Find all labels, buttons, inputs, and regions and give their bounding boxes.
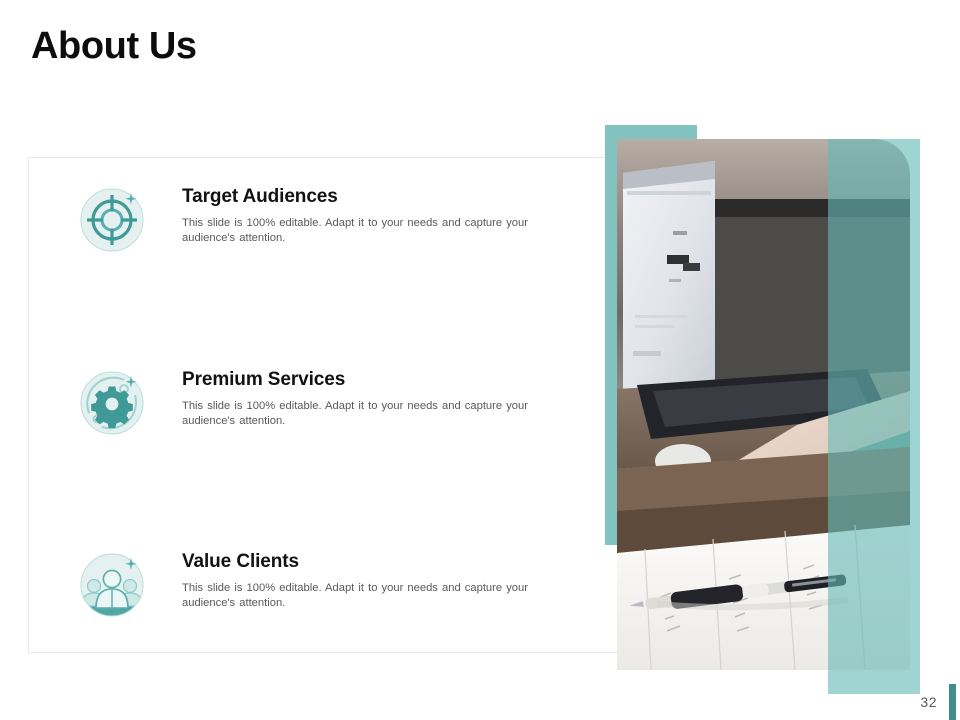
feature-item-premium-services[interactable]: Premium Services This slide is 100% edit… <box>78 368 578 448</box>
image-composition <box>605 125 925 685</box>
feature-description: This slide is 100% editable. Adapt it to… <box>182 399 554 430</box>
feature-text: Value Clients This slide is 100% editabl… <box>182 550 582 612</box>
feature-description: This slide is 100% editable. Adapt it to… <box>182 216 554 247</box>
right-accent-bar <box>949 684 956 720</box>
feature-description: This slide is 100% editable. Adapt it to… <box>182 581 554 612</box>
feature-title: Value Clients <box>182 550 582 574</box>
feature-item-target-audiences[interactable]: Target Audiences This slide is 100% edit… <box>78 185 578 265</box>
gear-icon <box>78 368 146 436</box>
page-number: 32 <box>920 694 937 710</box>
feature-title: Target Audiences <box>182 185 582 209</box>
feature-text: Premium Services This slide is 100% edit… <box>182 368 582 430</box>
teal-overlay-panel <box>828 139 920 694</box>
feature-item-value-clients[interactable]: Value Clients This slide is 100% editabl… <box>78 550 578 630</box>
feature-text: Target Audiences This slide is 100% edit… <box>182 185 582 247</box>
page-title: About Us <box>31 26 197 68</box>
slide-canvas: About Us Target Audiences This slide is … <box>0 0 960 720</box>
feature-title: Premium Services <box>182 368 582 392</box>
people-group-icon <box>78 550 146 618</box>
accent-frame-top <box>605 125 697 139</box>
target-icon <box>78 185 146 253</box>
